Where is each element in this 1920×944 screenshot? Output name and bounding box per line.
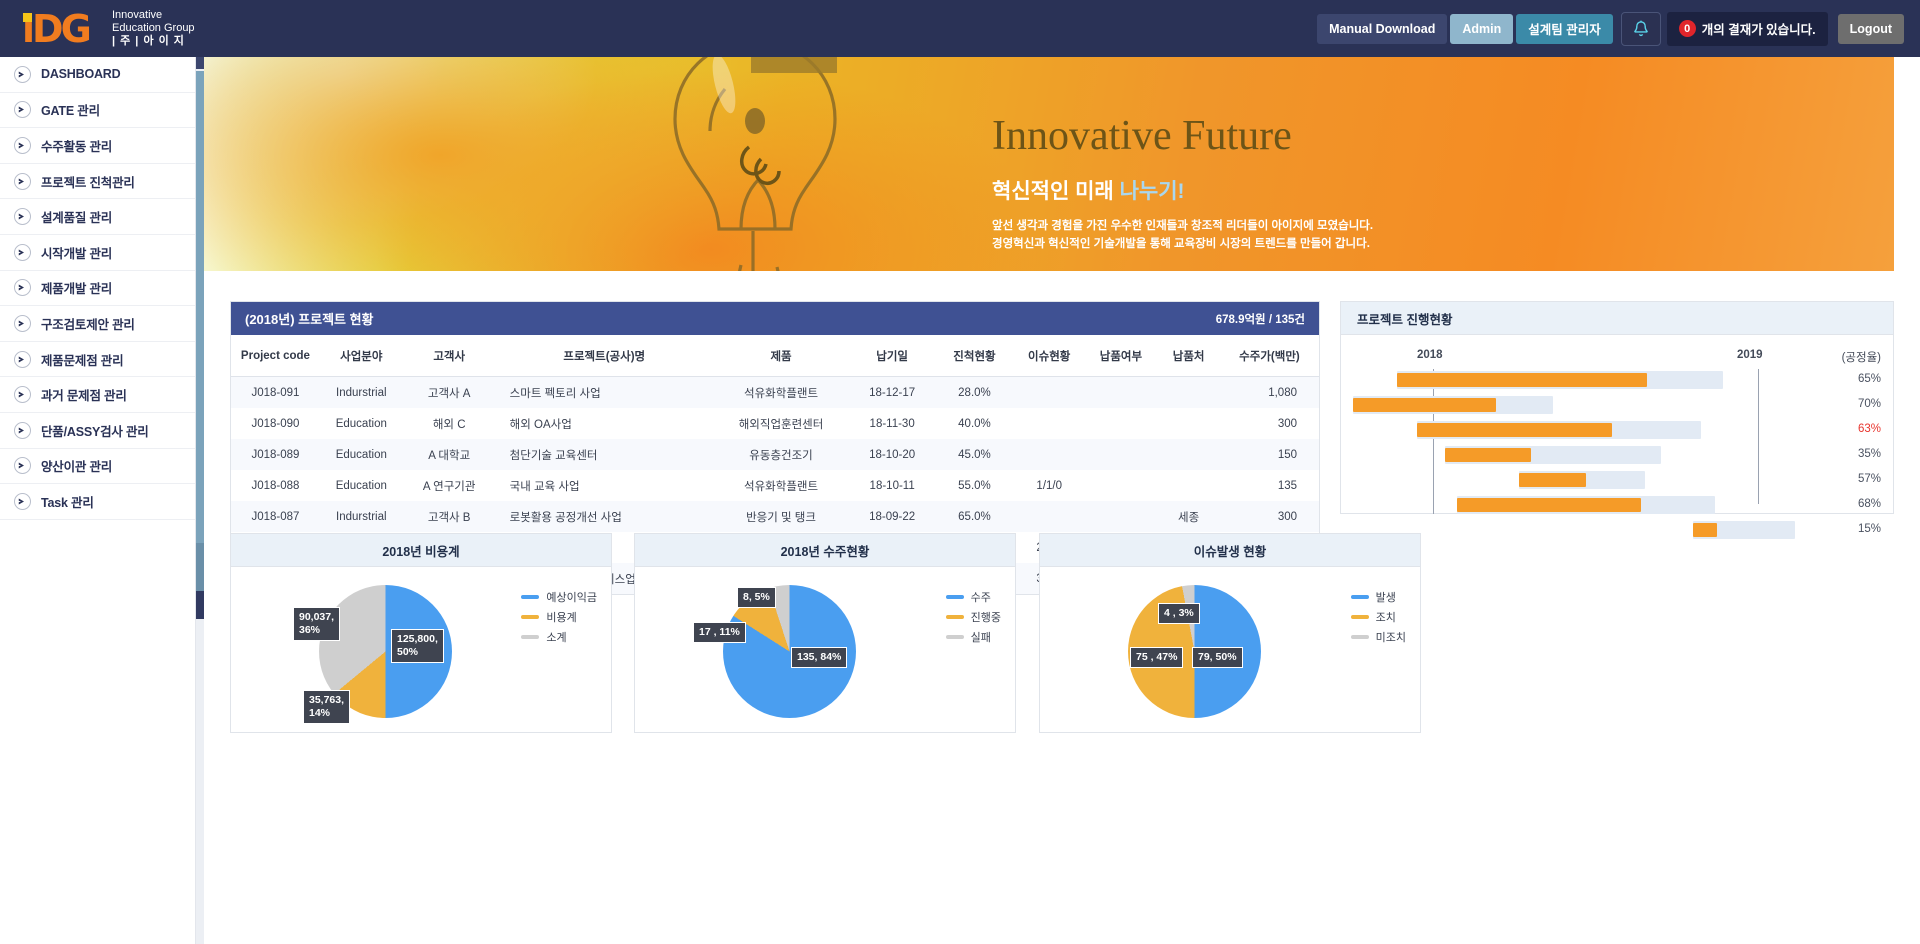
- banner-title: Innovative Future: [992, 115, 1373, 157]
- cell-product: 석유화학플랜트: [713, 377, 849, 409]
- sidebar-item-label: 제품개발 관리: [41, 278, 112, 297]
- logo-line-1: Innovative: [112, 9, 195, 22]
- gantt-percent-value: 68%: [1858, 498, 1881, 510]
- arrow-right-icon: [14, 315, 31, 332]
- legend-swatch-orange: [946, 615, 964, 619]
- sidebar-item-product-dev[interactable]: 제품개발 관리: [0, 271, 195, 307]
- legend-item[interactable]: 미조치: [1351, 629, 1406, 645]
- cell-destination: [1157, 470, 1220, 501]
- logo-mark-idg: iDG: [22, 9, 108, 49]
- sidebar-item-label: Task 관리: [41, 492, 94, 511]
- legend-item[interactable]: 예상이익금: [521, 589, 597, 605]
- gantt-chart: 2018 2019 (공정율) 65% 70%: [1341, 335, 1893, 514]
- banner-text-block: Innovative Future 혁신적인 미래 나누기! 앞선 생각과 경험…: [992, 115, 1373, 254]
- col-issue[interactable]: 이슈현황: [1014, 335, 1085, 377]
- legend-label: 수주: [971, 589, 991, 605]
- legend-item[interactable]: 진행중: [946, 609, 1001, 625]
- issue-pie-label-gray: 4 , 3%: [1158, 603, 1200, 624]
- cell-due: 18-12-17: [849, 377, 935, 409]
- col-product[interactable]: 제품: [713, 335, 849, 377]
- sidebar-item-label: 시작개발 관리: [41, 243, 112, 262]
- cell-field: Indurstrial: [320, 501, 403, 532]
- cost-pie-header: 2018년 비용계: [231, 534, 611, 567]
- col-delivered[interactable]: 납품여부: [1085, 335, 1158, 377]
- sidebar-item-product-issues[interactable]: 제품문제점 관리: [0, 342, 195, 378]
- cell-project: 로봇활용 공정개선 사업: [496, 501, 713, 532]
- scrollbar-thumb[interactable]: [196, 71, 204, 543]
- gantt-axis-2018: 2018: [1417, 349, 1443, 361]
- legend-swatch-gray: [946, 635, 964, 639]
- cell-delivered: [1085, 501, 1158, 532]
- cell-progress[interactable]: 40.0%: [935, 408, 1014, 439]
- issue-pie-label-blue: 79, 50%: [1192, 647, 1243, 668]
- banner-body-line-2: 경영혁신과 혁신적인 기술개발을 통해 교육장비 시장의 트렌드를 만들어 갑니…: [992, 236, 1373, 254]
- gantt-bar-fill: [1457, 498, 1641, 512]
- col-project-name[interactable]: 프로젝트(공사)명: [496, 335, 713, 377]
- issue-pie-body: 79, 50% 75 , 47% 4 , 3% 발생 조치 미조치: [1040, 567, 1420, 733]
- cell-progress[interactable]: 55.0%: [935, 470, 1014, 501]
- sidebar-item-part-assy-inspection[interactable]: 단품/ASSY검사 관리: [0, 413, 195, 449]
- legend-swatch-blue: [946, 595, 964, 599]
- hero-banner: Innovative Future 혁신적인 미래 나누기! 앞선 생각과 경험…: [204, 57, 1894, 271]
- header-actions: Manual Download Admin 설계팀 관리자 0 개의 결재가 있…: [1317, 12, 1904, 46]
- cell-delivered: [1085, 439, 1158, 470]
- legend-label: 실패: [971, 629, 991, 645]
- cell-project: 해외 OA사업: [496, 408, 713, 439]
- sidebar-item-label: 단품/ASSY검사 관리: [41, 421, 149, 440]
- legend-item[interactable]: 소계: [521, 629, 597, 645]
- cell-project: 스마트 펙토리 사업: [496, 377, 713, 409]
- sidebar-item-label: DASHBOARD: [41, 67, 120, 81]
- legend-swatch-orange: [521, 615, 539, 619]
- col-due-date[interactable]: 납기일: [849, 335, 935, 377]
- manual-download-button[interactable]: Manual Download: [1317, 14, 1447, 44]
- gantt-percent-value: 35%: [1858, 448, 1881, 460]
- col-order-price[interactable]: 수주가(백만): [1220, 335, 1319, 377]
- legend-swatch-orange: [1351, 615, 1369, 619]
- cell-delivered: [1085, 408, 1158, 439]
- cell-field: Education: [320, 470, 403, 501]
- cell-price: 135: [1220, 470, 1319, 501]
- gantt-bar-fill: [1353, 398, 1496, 412]
- cell-code: J018-087: [231, 501, 320, 532]
- gantt-bar-fill: [1397, 373, 1647, 387]
- arrow-right-icon: [14, 422, 31, 439]
- project-panel-title: (2018년) 프로젝트 현황: [245, 309, 374, 328]
- col-progress[interactable]: 진척현황: [935, 335, 1014, 377]
- project-table-head: Project code 사업분야 고객사 프로젝트(공사)명 제품 납기일 진…: [231, 335, 1319, 377]
- cell-destination: [1157, 377, 1220, 409]
- arrow-right-icon: [14, 173, 31, 190]
- logo-line-3: | 주 | 아 이 지: [112, 35, 195, 48]
- legend-label: 미조치: [1376, 629, 1406, 645]
- order-status-pie-panel: 2018년 수주현황 135, 84% 17 , 11% 8, 5% 수주 진행…: [634, 533, 1016, 733]
- cell-due: 18-09-22: [849, 501, 935, 532]
- cell-code: J018-091: [231, 377, 320, 409]
- cell-client: A 연구기관: [403, 470, 496, 501]
- arrow-right-icon: [14, 66, 31, 83]
- gantt-row[interactable]: 68%: [1341, 496, 1893, 514]
- cell-issue[interactable]: [1014, 408, 1085, 439]
- gantt-row[interactable]: 15%: [1341, 521, 1893, 539]
- order-pie-title: 2018년 수주현황: [781, 541, 870, 560]
- approval-count-badge: 0: [1679, 20, 1696, 37]
- col-destination[interactable]: 납품처: [1157, 335, 1220, 377]
- cell-price: 300: [1220, 408, 1319, 439]
- sidebar-item-label: 프로젝트 진척관리: [41, 172, 135, 191]
- legend-item[interactable]: 비용계: [521, 609, 597, 625]
- sidebar-item-label: GATE 관리: [41, 100, 100, 119]
- main-content: Innovative Future 혁신적인 미래 나누기! 앞선 생각과 경험…: [204, 57, 1920, 944]
- issue-pie-panel: 이슈발생 현황 79, 50% 75 , 47% 4 , 3% 발생 조치: [1039, 533, 1421, 733]
- sidebar-item-mass-production-transfer[interactable]: 양산이관 관리: [0, 449, 195, 485]
- sidebar-item-label: 과거 문제점 관리: [41, 385, 127, 404]
- cost-pie-label-blue: 125,800, 50%: [391, 629, 444, 663]
- legend-item[interactable]: 조치: [1351, 609, 1406, 625]
- legend-item[interactable]: 발생: [1351, 589, 1406, 605]
- gantt-percent-header: (공정율): [1842, 349, 1881, 365]
- col-business-field[interactable]: 사업분야: [320, 335, 403, 377]
- gantt-panel-title: 프로젝트 진행현황: [1357, 309, 1452, 328]
- gantt-percent-value: 63%: [1858, 423, 1881, 435]
- cell-delivered: [1085, 470, 1158, 501]
- gantt-bar-fill: [1445, 448, 1531, 462]
- gantt-row[interactable]: 63%: [1341, 421, 1893, 439]
- sidebar-item-task[interactable]: Task 관리: [0, 484, 195, 520]
- issue-pie-title: 이슈발생 현황: [1194, 541, 1266, 560]
- sidebar-item-label: 제품문제점 관리: [41, 350, 123, 369]
- sidebar-item-project-progress[interactable]: 프로젝트 진척관리: [0, 164, 195, 200]
- sidebar-item-label: 양산이관 관리: [41, 456, 112, 475]
- banner-body-line-1: 앞선 생각과 경험을 가진 우수한 인재들과 창조적 리더들이 아이지에 모였습…: [992, 218, 1373, 236]
- cell-field: Indurstrial: [320, 377, 403, 409]
- cell-client: A 대학교: [403, 439, 496, 470]
- cell-destination: [1157, 408, 1220, 439]
- cell-product: 유동층건조기: [713, 439, 849, 470]
- bell-icon: [1631, 19, 1651, 39]
- table-row[interactable]: J018-087 Indurstrial 고객사 B 로봇활용 공정개선 사업 …: [231, 501, 1319, 532]
- table-row[interactable]: J018-089 Education A 대학교 첨단기술 교육센터 유동층건조…: [231, 439, 1319, 470]
- cell-progress[interactable]: 28.0%: [935, 377, 1014, 409]
- cell-progress[interactable]: 45.0%: [935, 439, 1014, 470]
- order-pie-body: 135, 84% 17 , 11% 8, 5% 수주 진행중 실패: [635, 567, 1015, 733]
- logo-line-2: Education Group: [112, 22, 195, 35]
- gantt-row[interactable]: 57%: [1341, 471, 1893, 489]
- gantt-bar-fill: [1519, 473, 1586, 487]
- cell-client: 고객사 B: [403, 501, 496, 532]
- cell-due: 18-10-11: [849, 470, 935, 501]
- brand-logo[interactable]: iDG Innovative Education Group | 주 | 아 이…: [22, 9, 195, 49]
- col-client[interactable]: 고객사: [403, 335, 496, 377]
- cost-pie-legend: 예상이익금 비용계 소계: [521, 589, 597, 649]
- gantt-row[interactable]: 70%: [1341, 396, 1893, 414]
- col-project-code[interactable]: Project code: [231, 335, 320, 377]
- legend-swatch-gray: [521, 635, 539, 639]
- logo-mark-text: iDG: [22, 7, 89, 51]
- gantt-row[interactable]: 65%: [1341, 371, 1893, 389]
- cost-pie-label-gray: 90,037, 36%: [293, 607, 340, 641]
- order-pie-label-orange: 17 , 11%: [693, 622, 746, 643]
- cell-product: 석유화학플랜트: [713, 470, 849, 501]
- gantt-row[interactable]: 35%: [1341, 446, 1893, 464]
- banner-subtitle: 혁신적인 미래 나누기!: [992, 175, 1373, 205]
- table-header-row: Project code 사업분야 고객사 프로젝트(공사)명 제품 납기일 진…: [231, 335, 1319, 377]
- cell-issue[interactable]: 1/1/0: [1014, 470, 1085, 501]
- arrow-right-icon: [14, 386, 31, 403]
- arrow-right-icon: [14, 208, 31, 225]
- approval-text: 개의 결재가 있습니다.: [1702, 19, 1816, 38]
- banner-subtitle-main: 혁신적인 미래: [992, 180, 1120, 203]
- cell-issue[interactable]: [1014, 501, 1085, 532]
- gantt-percent-value: 15%: [1858, 523, 1881, 535]
- legend-label: 비용계: [546, 609, 576, 625]
- sidebar-item-order-activity[interactable]: 수주활동 관리: [0, 128, 195, 164]
- arrow-right-icon: [14, 244, 31, 261]
- banner-subtitle-highlight: 나누기!: [1120, 180, 1185, 203]
- legend-swatch-blue: [521, 595, 539, 599]
- project-total-amount: 678.9억원 / 135건: [1216, 311, 1305, 327]
- order-pie-header: 2018년 수주현황: [635, 534, 1015, 567]
- sidebar-item-design-quality[interactable]: 설계품질 관리: [0, 199, 195, 235]
- cell-destination: 세종: [1157, 501, 1220, 532]
- team-manager-button[interactable]: 설계팀 관리자: [1516, 14, 1612, 44]
- legend-swatch-gray: [1351, 635, 1369, 639]
- legend-label: 조치: [1376, 609, 1396, 625]
- cell-issue[interactable]: [1014, 377, 1085, 409]
- cost-pie-body: 125,800, 50% 35,763, 14% 90,037, 36% 예상이…: [231, 567, 611, 733]
- cost-pie-panel: 2018년 비용계 125,800, 50% 35,763, 14% 90,03…: [230, 533, 612, 733]
- banner-body: 앞선 생각과 경험을 가진 우수한 인재들과 창조적 리더들이 아이지에 모였습…: [992, 218, 1373, 254]
- scrollbar-cap-top: [196, 57, 204, 69]
- cost-pie-label-orange: 35,763, 14%: [303, 690, 350, 724]
- cell-due: 18-10-20: [849, 439, 935, 470]
- issue-pie-header: 이슈발생 현황: [1040, 534, 1420, 567]
- cell-due: 18-11-30: [849, 408, 935, 439]
- cell-price: 300: [1220, 501, 1319, 532]
- legend-label: 발생: [1376, 589, 1396, 605]
- sidebar-item-label: 설계품질 관리: [41, 207, 112, 226]
- scrollbar-thumb-tertiary[interactable]: [196, 591, 204, 619]
- cell-client: 해외 C: [403, 408, 496, 439]
- sidebar-item-gate[interactable]: GATE 관리: [0, 93, 195, 129]
- gantt-percent-value: 70%: [1858, 398, 1881, 410]
- logo-wordmark: Innovative Education Group | 주 | 아 이 지: [112, 9, 195, 48]
- arrow-right-icon: [14, 101, 31, 118]
- cell-delivered: [1085, 377, 1158, 409]
- admin-button[interactable]: Admin: [1450, 14, 1513, 44]
- project-panel-header: (2018년) 프로젝트 현황 678.9억원 / 135건: [231, 302, 1319, 335]
- arrow-right-icon: [14, 493, 31, 510]
- table-row[interactable]: J018-090 Education 해외 C 해외 OA사업 해외직업훈련센터…: [231, 408, 1319, 439]
- issue-pie-legend: 발생 조치 미조치: [1351, 589, 1406, 649]
- notification-bell-button[interactable]: [1621, 12, 1661, 46]
- arrow-right-icon: [14, 137, 31, 154]
- gantt-bar-fill: [1693, 523, 1717, 537]
- cell-code: J018-089: [231, 439, 320, 470]
- gantt-panel-header: 프로젝트 진행현황: [1341, 302, 1893, 335]
- table-row[interactable]: J018-088 Education A 연구기관 국내 교육 사업 석유화학플…: [231, 470, 1319, 501]
- gantt-gridline-2018: [1433, 369, 1434, 514]
- cell-code: J018-088: [231, 470, 320, 501]
- approval-status[interactable]: 0 개의 결재가 있습니다.: [1667, 12, 1828, 46]
- gantt-percent-value: 57%: [1858, 473, 1881, 485]
- gantt-percent-value: 65%: [1858, 373, 1881, 385]
- arrow-right-icon: [14, 351, 31, 368]
- cell-destination: [1157, 439, 1220, 470]
- scrollbar-thumb-secondary[interactable]: [196, 543, 204, 591]
- sidebar-item-label: 구조검토제안 관리: [41, 314, 135, 333]
- issue-pie-label-orange: 75 , 47%: [1130, 647, 1183, 668]
- sidebar-item-dashboard[interactable]: DASHBOARD: [0, 57, 195, 93]
- cell-product: 반응기 및 탱크: [713, 501, 849, 532]
- arrow-right-icon: [14, 279, 31, 296]
- gantt-axis-2019: 2019: [1737, 349, 1763, 361]
- project-progress-panel: 프로젝트 진행현황 2018 2019 (공정율) 65% 70%: [1340, 301, 1894, 514]
- cell-project: 국내 교육 사업: [496, 470, 713, 501]
- cell-progress[interactable]: 65.0%: [935, 501, 1014, 532]
- cell-project: 첨단기술 교육센터: [496, 439, 713, 470]
- sidebar-item-structure-review[interactable]: 구조검토제안 관리: [0, 306, 195, 342]
- arrow-right-icon: [14, 457, 31, 474]
- legend-label: 진행중: [971, 609, 1001, 625]
- legend-item[interactable]: 실패: [946, 629, 1001, 645]
- order-pie-legend: 수주 진행중 실패: [946, 589, 1001, 649]
- lightbulb-illustration: [629, 57, 879, 271]
- legend-swatch-blue: [1351, 595, 1369, 599]
- logout-button[interactable]: Logout: [1838, 14, 1904, 44]
- cell-price: 1,080: [1220, 377, 1319, 409]
- logo-dot: [23, 13, 32, 22]
- cell-field: Education: [320, 408, 403, 439]
- order-pie-label-blue: 135, 84%: [791, 647, 847, 668]
- order-pie-label-gray: 8, 5%: [737, 587, 776, 608]
- cell-issue[interactable]: [1014, 439, 1085, 470]
- legend-label: 소계: [546, 629, 566, 645]
- cell-product: 해외직업훈련센터: [713, 408, 849, 439]
- sidebar-item-prototype-dev[interactable]: 시작개발 관리: [0, 235, 195, 271]
- legend-label: 예상이익금: [546, 589, 597, 605]
- sidebar-item-past-issues[interactable]: 과거 문제점 관리: [0, 377, 195, 413]
- cell-price: 150: [1220, 439, 1319, 470]
- cost-pie-title: 2018년 비용계: [382, 541, 459, 560]
- legend-item[interactable]: 수주: [946, 589, 1001, 605]
- top-header-bar: iDG Innovative Education Group | 주 | 아 이…: [0, 0, 1920, 57]
- table-row[interactable]: J018-091 Indurstrial 고객사 A 스마트 펙토리 사업 석유…: [231, 377, 1319, 409]
- gantt-bar-fill: [1417, 423, 1612, 437]
- cell-client: 고객사 A: [403, 377, 496, 409]
- sidebar-navigation: DASHBOARD GATE 관리 수주활동 관리 프로젝트 진척관리 설계품질…: [0, 57, 196, 944]
- sidebar-item-label: 수주활동 관리: [41, 136, 112, 155]
- cell-code: J018-090: [231, 408, 320, 439]
- sidebar-scrollbar[interactable]: [196, 57, 204, 944]
- cell-field: Education: [320, 439, 403, 470]
